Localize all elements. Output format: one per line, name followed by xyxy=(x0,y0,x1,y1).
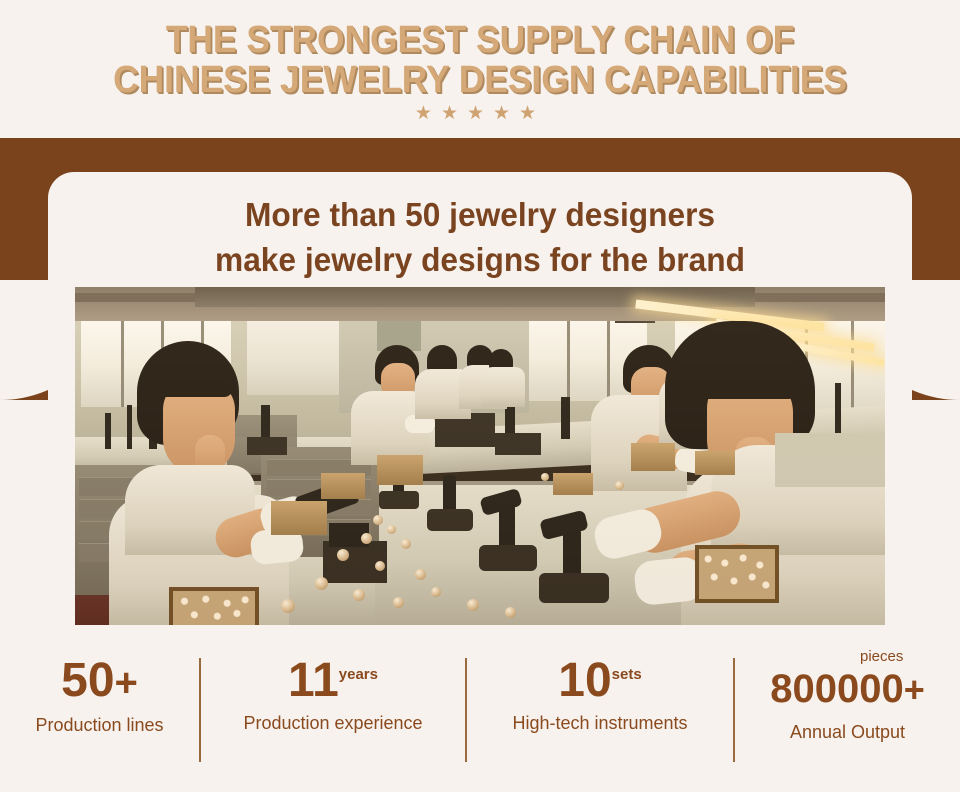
stat-high-tech-instruments: 10sets High-tech instruments xyxy=(467,655,733,735)
card-headline: More than 50 jewelry designers make jewe… xyxy=(65,192,894,282)
stats-row: 50+ Production lines 11years Production … xyxy=(0,655,960,765)
stat-unit: years xyxy=(339,666,378,683)
stat-unit: sets xyxy=(612,666,642,683)
stat-production-lines: 50+ Production lines xyxy=(0,655,199,737)
stat-unit: pieces xyxy=(860,649,903,665)
content-card: More than 50 jewelry designers make jewe… xyxy=(48,172,912,672)
stat-production-experience: 11years Production experience xyxy=(201,655,465,735)
stat-label: High-tech instruments xyxy=(467,711,733,735)
stat-annual-output: pieces 800000+ Annual Output xyxy=(735,655,960,744)
workshop-photo xyxy=(75,287,885,625)
stat-label: Production lines xyxy=(0,713,199,737)
stat-number: 11years xyxy=(201,655,465,707)
page-title: THE STRONGEST SUPPLY CHAIN OF CHINESE JE… xyxy=(34,20,927,100)
stat-number: 50+ xyxy=(0,655,199,709)
stat-label: Annual Output xyxy=(735,720,960,744)
stat-number: 10sets xyxy=(467,655,733,707)
star-rating-icon: ★★★★★ xyxy=(0,104,960,123)
header-banner: THE STRONGEST SUPPLY CHAIN OF CHINESE JE… xyxy=(0,0,960,138)
stat-number: 800000+ xyxy=(735,663,960,716)
stat-label: Production experience xyxy=(201,711,465,735)
